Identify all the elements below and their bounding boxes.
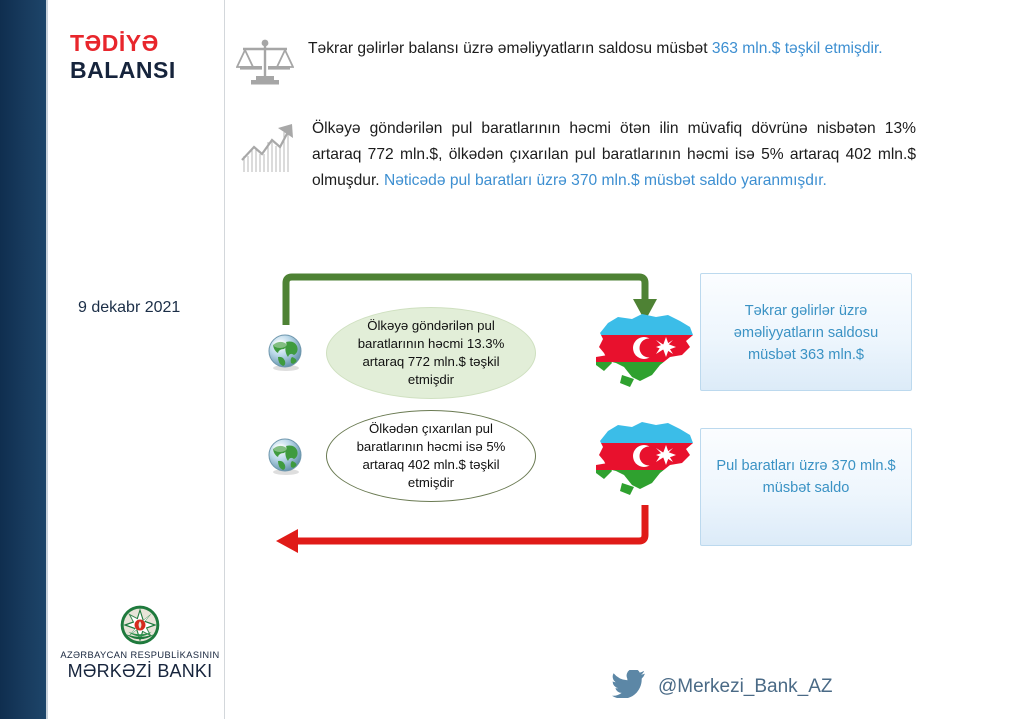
balance-scale-icon [236, 36, 294, 93]
summary-bullet-remittances: Ölkəyə göndərilən pul baratlarının həcmi… [236, 116, 916, 194]
inflow-callout: Ölkəyə göndərilən pul baratlarının həcmi… [326, 307, 536, 399]
azerbaijan-state-emblem-icon [119, 604, 161, 646]
info-box-remittances: Pul baratları üzrə 370 mln.$ müsbət sald… [700, 428, 912, 546]
globe-icon-inflow [266, 333, 306, 373]
bullet-1-highlight-text: 363 mln.$ təşkil etmişdir. [712, 40, 883, 57]
page-title: TƏDİYƏ BALANSI [70, 30, 220, 84]
left-accent-bar-edge [46, 0, 48, 719]
summary-bullet-balance: Təkrar gəlirlər balansı üzrə əməliyyatla… [236, 36, 916, 93]
left-accent-bar [0, 0, 46, 719]
outflow-callout: Ölkədən çıxarılan pul baratlarının həcmi… [326, 410, 536, 502]
summary-bullet-balance-text: Təkrar gəlirlər balansı üzrə əməliyyatla… [308, 36, 883, 62]
outflow-callout-text: Ölkədən çıxarılan pul baratlarının həcmi… [343, 420, 519, 492]
twitter-handle[interactable]: @Merkezi_Bank_AZ [658, 676, 833, 698]
bank-logo: AZƏRBAYCAN RESPUBLİKASININ MƏRKƏZİ BANKI [60, 604, 220, 682]
info-box-balance: Təkrar gəlirlər üzrə əməliyyatların sald… [700, 273, 912, 391]
twitter-bird-icon [612, 670, 646, 703]
globe-icon-outflow [266, 437, 306, 477]
azerbaijan-flag-map-inflow [594, 305, 698, 391]
publication-date: 9 dekabr 2021 [78, 299, 180, 317]
azerbaijan-flag-map-outflow [594, 413, 698, 499]
bullet-1-dark-text: Təkrar gəlirlər balansı üzrə əməliyyatla… [308, 40, 712, 57]
summary-bullet-remittances-text: Ölkəyə göndərilən pul baratlarının həcmi… [312, 116, 916, 194]
page-title-line1: TƏDİYƏ [70, 30, 220, 57]
bank-logo-line1: AZƏRBAYCAN RESPUBLİKASININ [60, 650, 220, 660]
bank-logo-line2: MƏRKƏZİ BANKI [60, 661, 220, 682]
info-box-remittances-text: Pul baratları üzrə 370 mln.$ müsbət sald… [711, 455, 901, 499]
bullet-2-highlight-text: Nəticədə pul baratları üzrə 370 mln.$ mü… [384, 172, 827, 189]
info-box-balance-text: Təkrar gəlirlər üzrə əməliyyatların sald… [711, 300, 901, 366]
inflow-callout-text: Ölkəyə göndərilən pul baratlarının həcmi… [343, 317, 519, 389]
growth-chart-icon [236, 116, 298, 183]
page-title-line2: BALANSI [70, 57, 220, 84]
twitter-footer[interactable]: @Merkezi_Bank_AZ [612, 670, 833, 703]
